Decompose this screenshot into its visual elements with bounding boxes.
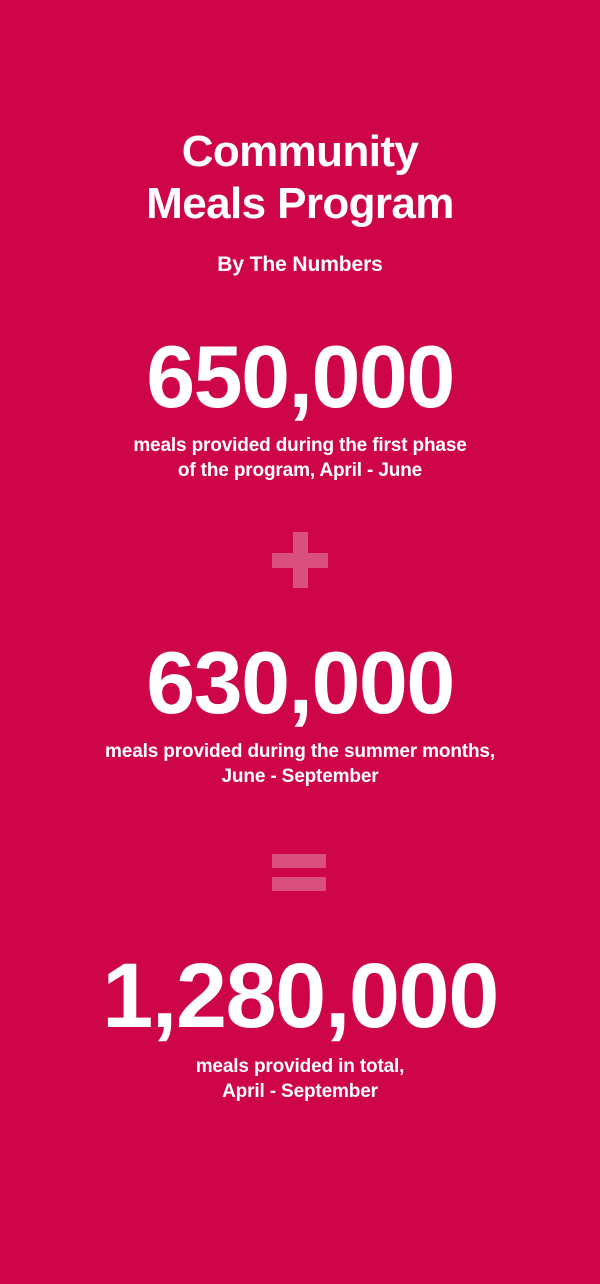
caption-line-2: April - September [0,1079,600,1104]
page-title: Community Meals Program [0,126,600,230]
poster-header: Community Meals Program By The Numbers [0,0,600,277]
infographic-poster: Community Meals Program By The Numbers 6… [0,0,600,1284]
stat-value-first-phase: 650,000 [0,333,600,421]
caption-line-2: June - September [0,764,600,789]
stat-block-summer: 630,000 meals provided during the summer… [0,639,600,789]
stat-caption-first-phase: meals provided during the first phase of… [0,421,600,483]
title-line-2: Meals Program [0,178,600,230]
equals-icon [272,840,328,896]
plus-vertical-bar [293,532,308,588]
stat-value-total: 1,280,000 [0,950,600,1042]
stat-block-first-phase: 650,000 meals provided during the first … [0,277,600,483]
stat-value-summer: 630,000 [0,639,600,727]
caption-line-1: meals provided in total, [0,1054,600,1079]
caption-line-1: meals provided during the first phase [0,433,600,458]
stat-caption-total: meals provided in total, April - Septemb… [0,1042,600,1104]
stat-caption-summer: meals provided during the summer months,… [0,727,600,789]
title-line-1: Community [0,126,600,178]
plus-icon [272,532,328,588]
equals-bottom-bar [272,877,326,891]
equals-bars [272,840,326,896]
caption-line-1: meals provided during the summer months, [0,739,600,764]
page-subtitle: By The Numbers [0,230,600,277]
equals-top-bar [272,854,326,868]
stat-block-total: 1,280,000 meals provided in total, April… [0,950,600,1104]
caption-line-2: of the program, April - June [0,458,600,483]
